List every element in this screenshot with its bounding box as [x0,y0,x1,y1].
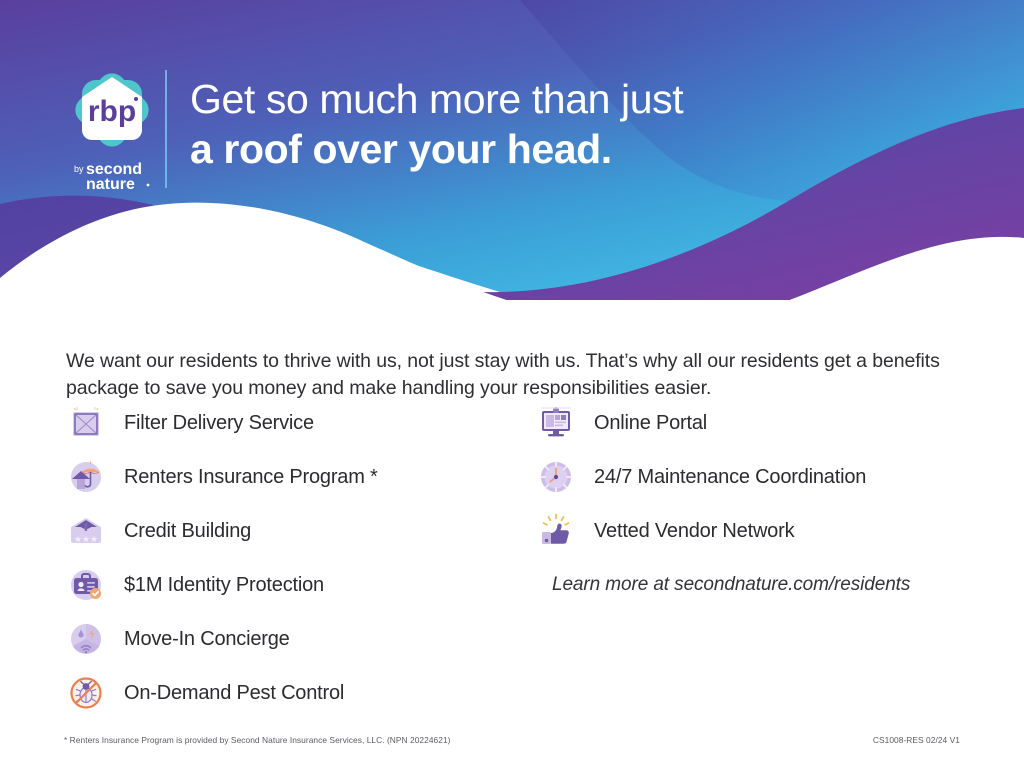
benefit-label: 24/7 Maintenance Coordination [594,466,866,489]
footer-disclaimer: * Renters Insurance Program is provided … [64,735,451,745]
brand-by-text: by [74,164,84,174]
rbp-badge-icon: rbp [70,68,154,152]
benefit-item: 24/7 Maintenance Coordination [534,450,964,504]
brand-logo: rbp by second nature [62,68,162,199]
utilities-pie-icon [64,617,108,661]
headline-line-2: a roof over your head. [190,124,990,174]
benefit-item: Online Portal [534,396,964,450]
rbp-wordmark: rbp [88,95,136,128]
flyer-page: rbp by second nature Get so much more th… [0,0,1024,769]
benefit-label: $1M Identity Protection [124,574,324,597]
benefit-label: On-Demand Pest Control [124,682,344,705]
benefit-item: Credit Building [64,504,534,558]
hero-banner: rbp by second nature Get so much more th… [0,0,1024,300]
benefit-label: Renters Insurance Program * [124,466,378,489]
umbrella-house-icon [64,455,108,499]
benefits-column-left: Filter Delivery Service Renters Insuran [64,396,534,720]
benefit-item: On-Demand Pest Control [64,666,534,720]
thumbs-up-icon [534,509,578,553]
benefit-item: $1M Identity Protection [64,558,534,612]
air-filter-icon [64,401,108,445]
id-badge-check-icon [64,563,108,607]
benefit-item: Filter Delivery Service [64,396,534,450]
benefit-item: Renters Insurance Program * [64,450,534,504]
monitor-portal-icon [534,401,578,445]
brand-nature-text: nature [86,176,135,193]
no-pest-icon [64,671,108,715]
header-divider [165,70,167,188]
benefit-label: Vetted Vendor Network [594,520,794,543]
benefit-item: Vetted Vendor Network [534,504,964,558]
brand-sublogo: by second nature [62,158,162,199]
clock-icon [534,455,578,499]
benefits-column-right: Online Portal [534,396,964,596]
footer-doc-code: CS1008-RES 02/24 V1 [873,735,960,745]
learn-more-text: Learn more at secondnature.com/residents [552,574,964,596]
benefit-label: Credit Building [124,520,251,543]
credit-stars-icon [64,509,108,553]
benefit-item: Move-In Concierge [64,612,534,666]
benefit-label: Filter Delivery Service [124,412,314,435]
headline-line-1: Get so much more than just [190,74,990,124]
benefit-label: Move-In Concierge [124,628,290,651]
hero-headline: Get so much more than just a roof over y… [190,74,990,174]
benefit-label: Online Portal [594,412,707,435]
intro-paragraph: We want our residents to thrive with us,… [66,348,956,402]
